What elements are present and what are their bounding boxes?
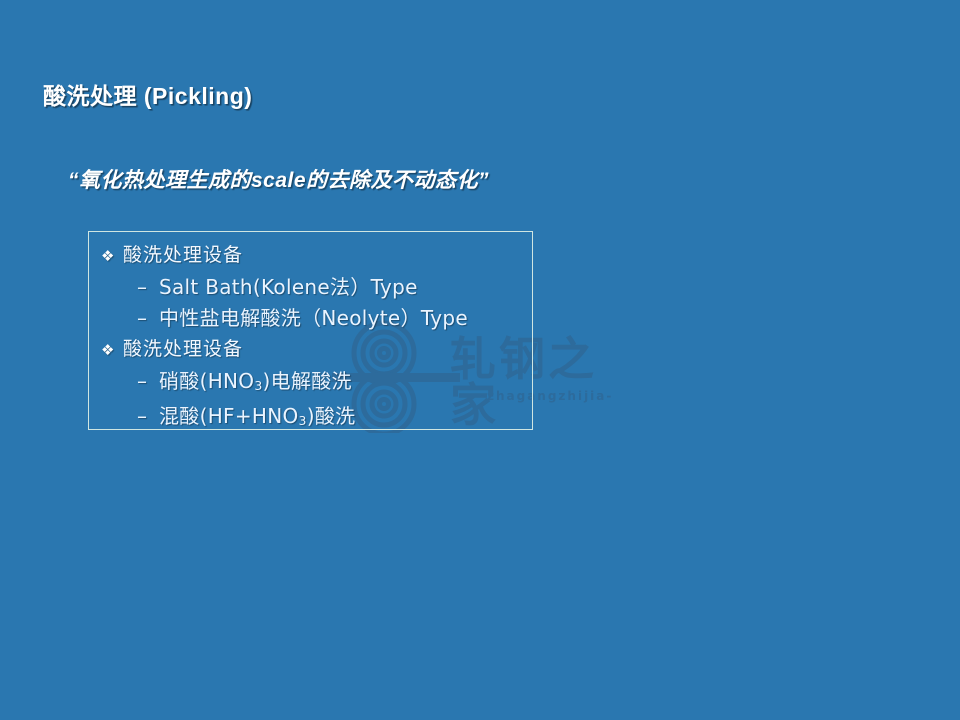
content-box: ❖ 酸洗处理设备 – Salt Bath(Kolene法）Type – 中性盐电… [88, 231, 533, 430]
dash-icon: – [137, 366, 159, 397]
diamond-bullet-icon: ❖ [101, 336, 123, 366]
list-item: – 硝酸(HNO3)电解酸洗 [137, 366, 355, 401]
bullet-group: ❖ 酸洗处理设备 – Salt Bath(Kolene法）Type – 中性盐电… [101, 241, 468, 334]
list-item: – 中性盐电解酸洗（Neolyte）Type [137, 303, 468, 334]
bullet-group: ❖ 酸洗处理设备 – 硝酸(HNO3)电解酸洗 – 混酸(HF+HNO3)酸洗 [101, 335, 355, 436]
list-item-label: Salt Bath(Kolene法）Type [159, 272, 418, 303]
list-item: – 混酸(HF+HNO3)酸洗 [137, 401, 355, 436]
list-item-label: 硝酸(HNO3)电解酸洗 [159, 366, 352, 401]
diamond-bullet-icon: ❖ [101, 242, 123, 272]
bullet-group-heading: ❖ 酸洗处理设备 [101, 335, 355, 366]
list-item-label: 中性盐电解酸洗（Neolyte）Type [159, 303, 468, 334]
bullet-group-heading: ❖ 酸洗处理设备 [101, 241, 468, 272]
page-title: 酸洗处理 (Pickling) [43, 83, 252, 111]
dash-icon: – [137, 272, 159, 303]
list-item: – Salt Bath(Kolene法）Type [137, 272, 468, 303]
dash-icon: – [137, 303, 159, 334]
dash-icon: – [137, 401, 159, 432]
bullet-group-heading-label: 酸洗处理设备 [123, 335, 243, 365]
bullet-group-heading-label: 酸洗处理设备 [123, 241, 243, 271]
page-subtitle: “氧化热处理生成的scale的去除及不动态化” [68, 168, 489, 193]
slide-canvas: 轧钢之家 -zhagangzhijia- 酸洗处理 (Pickling) “氧化… [0, 0, 960, 720]
list-item-label: 混酸(HF+HNO3)酸洗 [159, 401, 355, 436]
